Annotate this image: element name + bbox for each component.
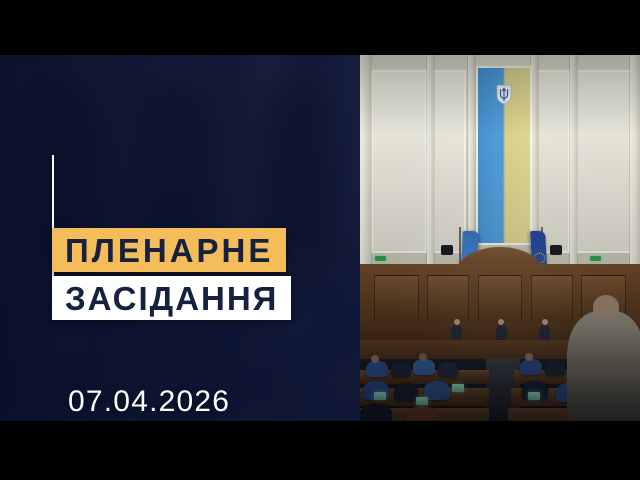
broadcast-date: 07.04.2026 (68, 385, 230, 419)
standing-deputy (567, 311, 640, 421)
letterbox-bar-top (0, 0, 640, 55)
deputy (360, 403, 392, 421)
wall-recess (536, 70, 570, 253)
deputy (391, 362, 411, 377)
deputy (424, 381, 450, 400)
deputy (545, 361, 565, 376)
deputy (438, 362, 458, 377)
presidium-panel (478, 275, 523, 323)
presidium-chairman (496, 324, 507, 340)
wall-pilaster (570, 55, 577, 267)
deputy (366, 361, 388, 377)
presidium-panel (427, 275, 469, 323)
deputy (405, 406, 439, 421)
letterbox-bar-bottom (0, 421, 640, 480)
title-line-1: ПЛЕНАРНЕ (65, 234, 273, 267)
trident-coat-of-arms-icon (496, 77, 512, 112)
exit-sign (375, 256, 386, 261)
video-band: ПЛЕНАРНЕ ЗАСІДАННЯ 07.04.2026 (0, 55, 640, 421)
presidium-official (539, 324, 550, 340)
broadcast-frame: ПЛЕНАРНЕ ЗАСІДАННЯ 07.04.2026 (0, 0, 640, 480)
presidium-panel (531, 275, 573, 323)
exit-sign (590, 256, 601, 261)
wall-pilaster (427, 55, 434, 267)
title-line-2: ЗАСІДАННЯ (65, 282, 278, 315)
chamber-camera (550, 245, 562, 255)
wall-pilaster (360, 55, 371, 267)
deputy (520, 359, 542, 375)
chamber-camera (441, 245, 453, 255)
title-bar-primary: ПЛЕНАРНЕ (52, 228, 286, 272)
desk-screen (374, 392, 386, 400)
deputy (394, 383, 418, 401)
deputy (413, 359, 435, 375)
desk-screen (416, 397, 428, 405)
presidium-official (451, 324, 462, 340)
desk-screen (528, 392, 540, 400)
wall-recess (576, 70, 632, 253)
wall-recess (433, 70, 467, 253)
presidium-panel (374, 275, 419, 323)
lower-third-graphic: ПЛЕНАРНЕ ЗАСІДАННЯ 07.04.2026 (0, 55, 360, 421)
ukraine-flag-banner (476, 66, 532, 245)
title-bar-secondary: ЗАСІДАННЯ (52, 276, 291, 320)
wall-pilaster (630, 55, 640, 267)
verkhovna-rada-chamber (360, 55, 640, 421)
wall-recess (371, 70, 427, 253)
desk-screen (452, 384, 464, 392)
